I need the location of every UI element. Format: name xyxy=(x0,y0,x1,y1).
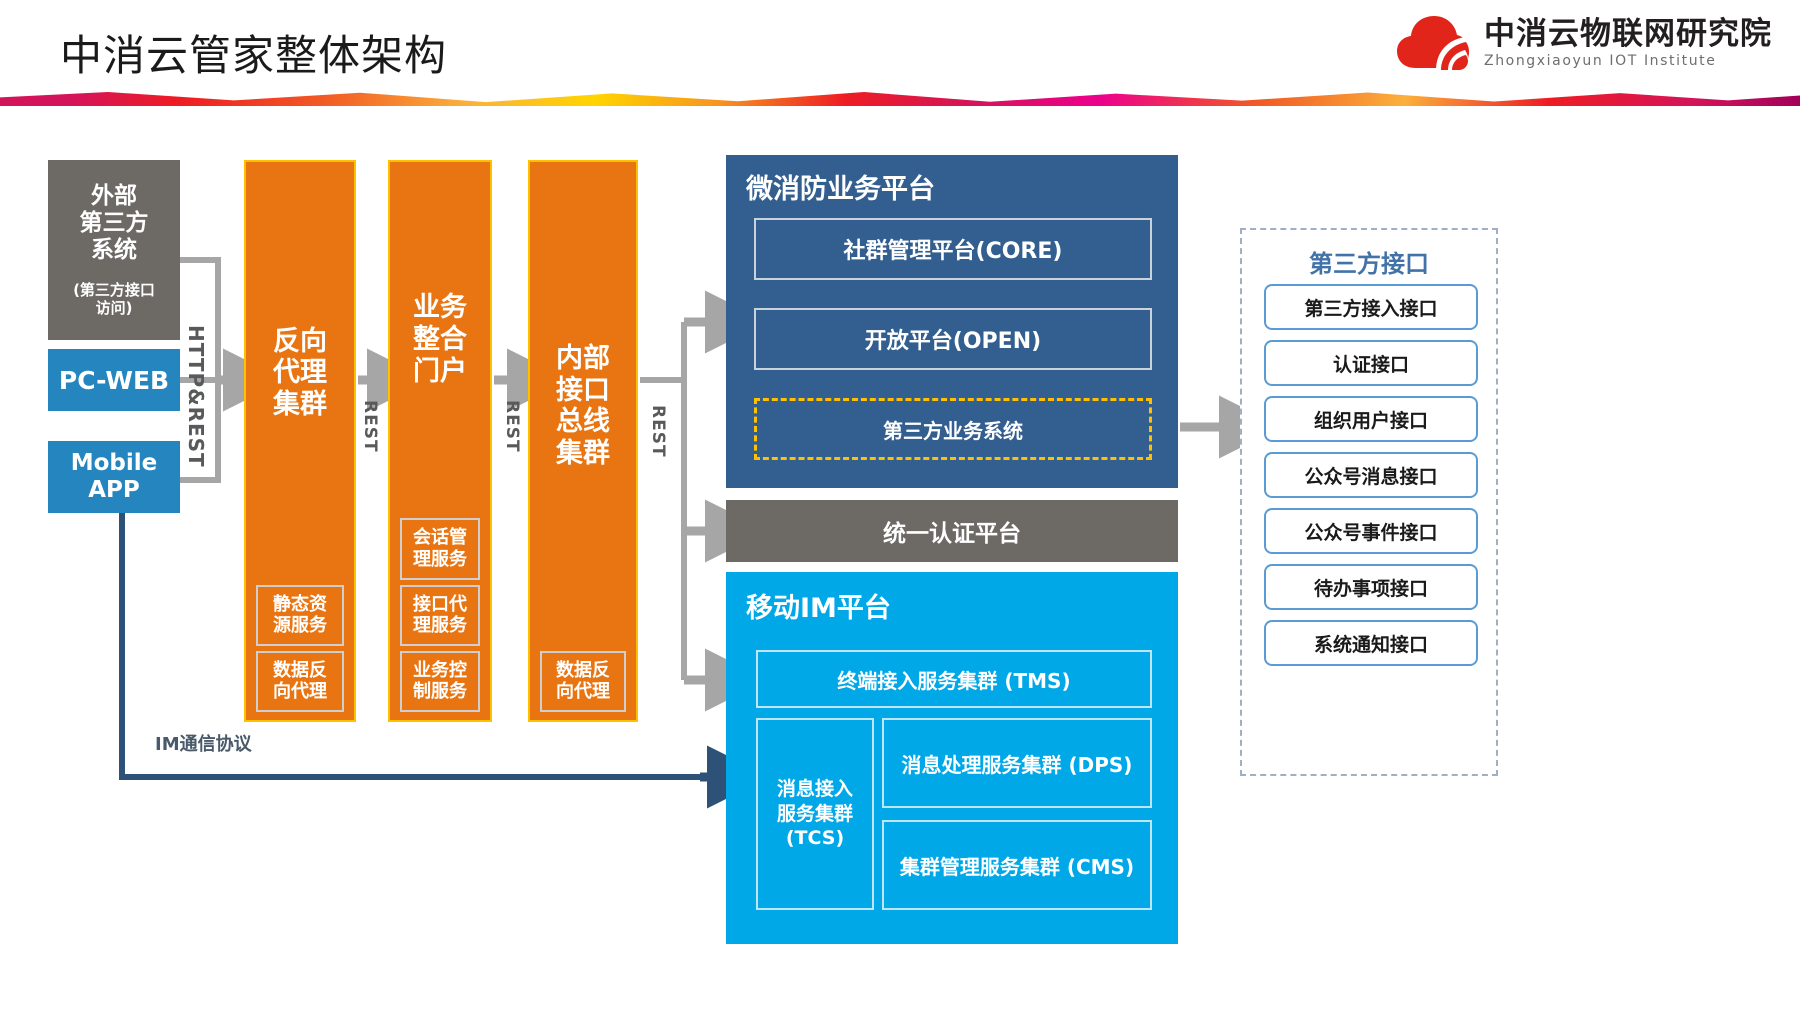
architecture-diagram: 外部 第三方 系统 (第三方接口 访问) PC-WEB Mobile APP 反… xyxy=(0,100,1800,1013)
logo-company-cn: 中消云物联网研究院 xyxy=(1484,17,1772,51)
brand-logo: 中消云物联网研究院 Zhongxiaoyun IOT Institute xyxy=(1396,12,1772,74)
official-account-event-interface[interactable]: 公众号事件接口 xyxy=(1264,508,1478,554)
external-system-line-2: 第三方 xyxy=(80,210,149,237)
rest-label-3: REST xyxy=(648,405,668,458)
external-system-line-1: 外部 xyxy=(80,183,149,210)
message-access-service-cluster-tcs[interactable]: 消息接入 服务集群 (TCS) xyxy=(756,718,874,910)
data-reverse-proxy-line-1: 数据反 xyxy=(260,660,340,682)
official-account-message-interface[interactable]: 公众号消息接口 xyxy=(1264,452,1478,498)
cluster-management-service-cluster-cms[interactable]: 集群管理服务集群 (CMS) xyxy=(882,820,1152,910)
interface-bus-line-4: 集群 xyxy=(556,438,610,470)
http-rest-label: HTTP&REST xyxy=(184,325,208,468)
third-party-access-interface[interactable]: 第三方接入接口 xyxy=(1264,284,1478,330)
data-reverse-proxy-line-2: 向代理 xyxy=(260,681,340,703)
unified-auth-platform[interactable]: 统一认证平台 xyxy=(726,500,1178,562)
red-cloud-logo-icon xyxy=(1396,12,1470,74)
interface-proxy-service-box[interactable]: 接口代 理服务 xyxy=(400,585,480,646)
interface-bus-line-3: 总线 xyxy=(556,406,610,438)
static-resource-line-2: 源服务 xyxy=(260,615,340,637)
session-management-service-box[interactable]: 会话管 理服务 xyxy=(400,518,480,579)
mobile-im-platform-title: 移动IM平台 xyxy=(746,586,891,625)
session-mgmt-line-2: 理服务 xyxy=(404,549,476,571)
community-management-platform-core[interactable]: 社群管理平台(CORE) xyxy=(754,218,1152,280)
business-portal-line-1: 业务 xyxy=(413,292,467,324)
mobile-im-platform[interactable]: 移动IM平台 终端接入服务集群 (TMS) 消息接入 服务集群 (TCS) 消息… xyxy=(726,572,1178,944)
external-third-party-system-box[interactable]: 外部 第三方 系统 (第三方接口 访问) xyxy=(48,160,180,340)
third-party-interface-list: 第三方接入接口 认证接口 组织用户接口 公众号消息接口 公众号事件接口 待办事项… xyxy=(1264,284,1478,666)
terminal-access-service-cluster-tms[interactable]: 终端接入服务集群 (TMS) xyxy=(756,650,1152,708)
third-party-interface-panel: 第三方接口 第三方接入接口 认证接口 组织用户接口 公众号消息接口 公众号事件接… xyxy=(1240,228,1498,776)
micro-fire-platform-title: 微消防业务平台 xyxy=(746,167,935,206)
business-control-line-2: 制服务 xyxy=(404,681,476,703)
pc-web-box[interactable]: PC-WEB xyxy=(48,349,180,411)
bus-data-reverse-proxy-box[interactable]: 数据反 向代理 xyxy=(540,651,626,712)
third-party-panel-title: 第三方接口 xyxy=(1242,244,1496,279)
reverse-proxy-line-2: 代理 xyxy=(273,357,327,389)
open-platform-open[interactable]: 开放平台(OPEN) xyxy=(754,308,1152,370)
todo-item-interface[interactable]: 待办事项接口 xyxy=(1264,564,1478,610)
data-reverse-proxy-box[interactable]: 数据反 向代理 xyxy=(256,651,344,712)
interface-proxy-line-2: 理服务 xyxy=(404,615,476,637)
static-resource-service-box[interactable]: 静态资 源服务 xyxy=(256,585,344,646)
system-notification-interface[interactable]: 系统通知接口 xyxy=(1264,620,1478,666)
interface-bus-line-2: 接口 xyxy=(556,375,610,407)
interface-bus-line-1: 内部 xyxy=(556,343,610,375)
micro-fire-business-platform[interactable]: 微消防业务平台 社群管理平台(CORE) 开放平台(OPEN) 第三方业务系统 xyxy=(726,155,1178,488)
reverse-proxy-line-3: 集群 xyxy=(273,389,327,421)
business-portal-line-3: 门户 xyxy=(413,356,467,388)
third-party-business-system[interactable]: 第三方业务系统 xyxy=(754,398,1152,460)
bus-data-reverse-proxy-line-1: 数据反 xyxy=(544,660,622,682)
message-processing-service-cluster-dps[interactable]: 消息处理服务集群 (DPS) xyxy=(882,718,1152,808)
reverse-proxy-line-1: 反向 xyxy=(273,326,327,358)
tcs-line-1: 消息接入 xyxy=(777,777,853,802)
internal-interface-bus-pillar[interactable]: 内部 接口 总线 集群 数据反 向代理 xyxy=(528,160,638,722)
external-system-line-3: 系统 xyxy=(80,237,149,264)
static-resource-line-1: 静态资 xyxy=(260,594,340,616)
business-portal-line-2: 整合 xyxy=(413,324,467,356)
interface-proxy-line-1: 接口代 xyxy=(404,594,476,616)
im-protocol-label: IM通信协议 xyxy=(155,730,252,756)
rest-label-2: REST xyxy=(502,400,522,453)
external-system-note-1: (第三方接口 xyxy=(73,281,155,299)
external-system-note-2: 访问) xyxy=(73,299,155,317)
business-control-service-box[interactable]: 业务控 制服务 xyxy=(400,651,480,712)
rest-label-1: REST xyxy=(360,400,380,453)
auth-interface[interactable]: 认证接口 xyxy=(1264,340,1478,386)
slide-header: 中消云管家整体架构 中消云物联网研究院 Zhongxiaoyun IOT Ins… xyxy=(0,0,1800,100)
business-portal-pillar[interactable]: 业务 整合 门户 会话管 理服务 接口代 理服务 业务控 制服务 xyxy=(388,160,492,722)
page-title: 中消云管家整体架构 xyxy=(60,22,447,83)
mobile-app-box[interactable]: Mobile APP xyxy=(48,441,180,513)
pc-web-label: PC-WEB xyxy=(59,366,169,395)
bus-data-reverse-proxy-line-2: 向代理 xyxy=(544,681,622,703)
org-user-interface[interactable]: 组织用户接口 xyxy=(1264,396,1478,442)
business-control-line-1: 业务控 xyxy=(404,660,476,682)
session-mgmt-line-1: 会话管 xyxy=(404,527,476,549)
mobile-app-line-2: APP xyxy=(88,477,140,504)
mobile-app-line-1: Mobile xyxy=(71,450,158,477)
reverse-proxy-cluster-pillar[interactable]: 反向 代理 集群 静态资 源服务 数据反 向代理 xyxy=(244,160,356,722)
tcs-line-3: (TCS) xyxy=(786,826,844,851)
logo-company-en: Zhongxiaoyun IOT Institute xyxy=(1484,53,1772,69)
tcs-line-2: 服务集群 xyxy=(777,802,853,827)
